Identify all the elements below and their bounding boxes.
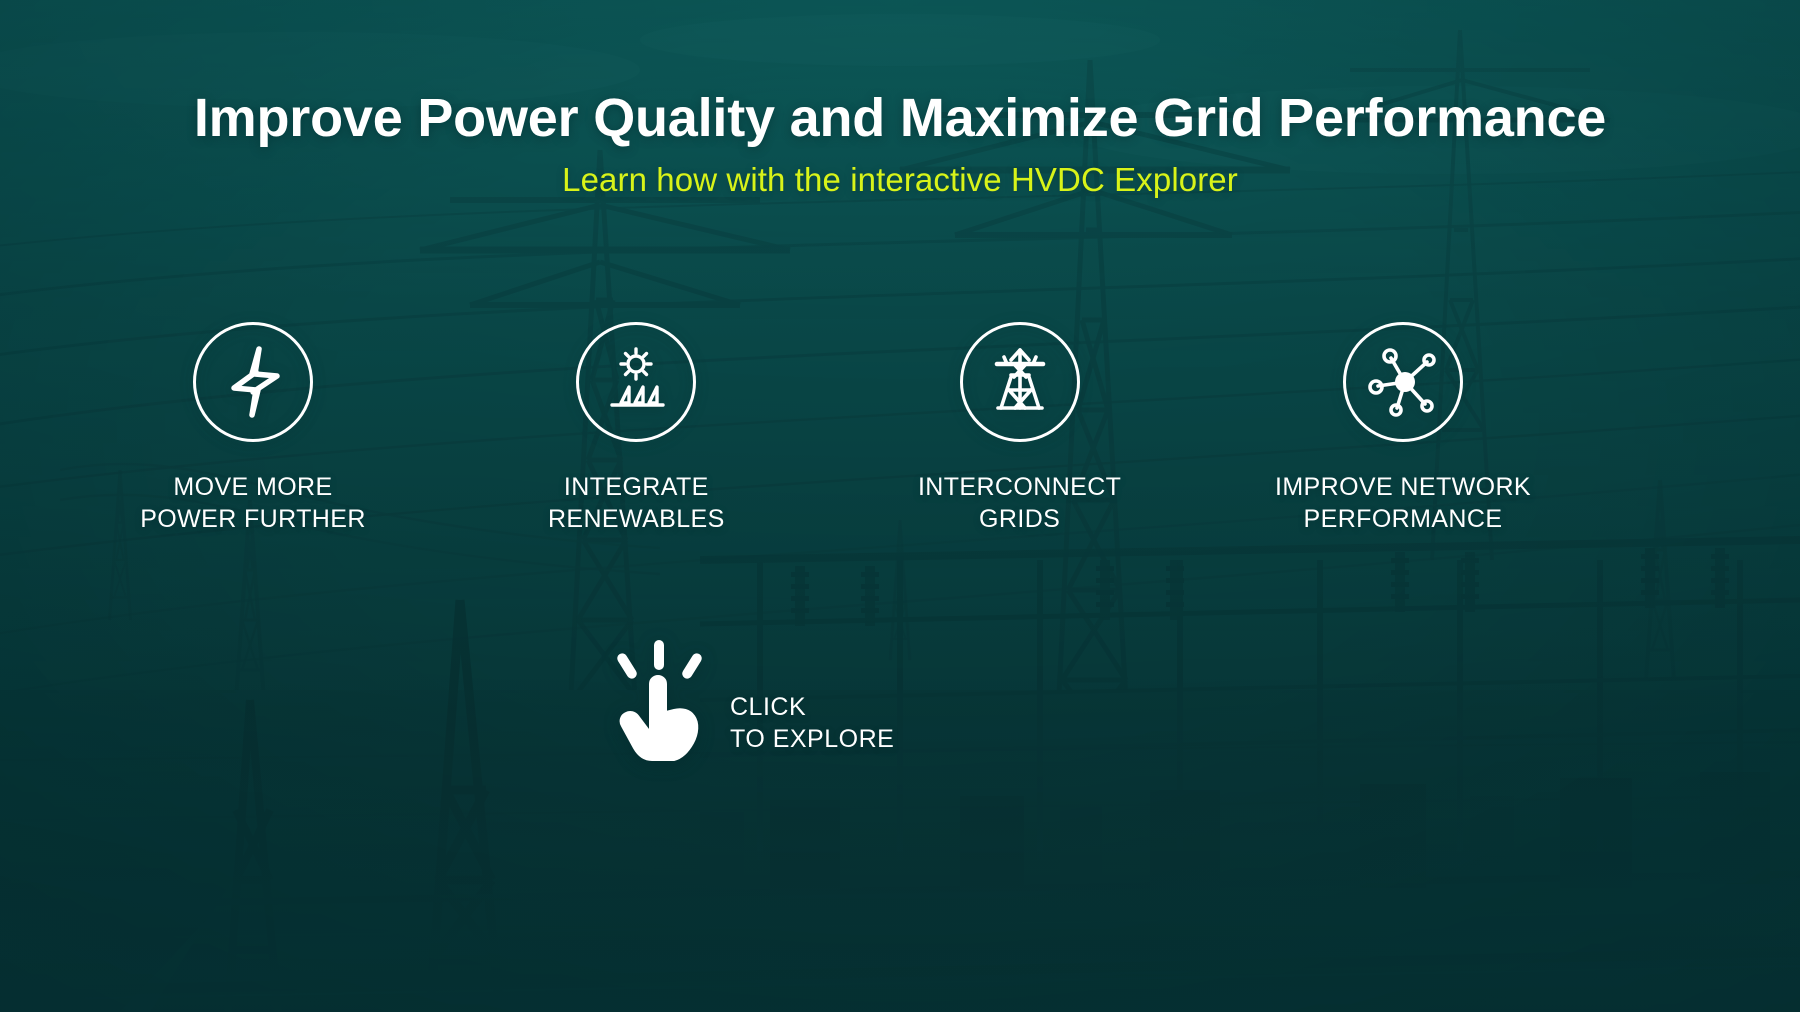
feature-label: INTERCONNECT GRIDS	[918, 472, 1121, 536]
feature-label: IMPROVE NETWORK PERFORMANCE	[1275, 472, 1531, 536]
icon-circle	[576, 322, 696, 442]
feature-label: MOVE MORE POWER FURTHER	[140, 472, 366, 536]
network-nodes-icon	[1367, 346, 1439, 418]
transmission-tower-icon	[987, 346, 1053, 418]
feature-interconnect-grids[interactable]: INTERCONNECT GRIDS	[875, 322, 1165, 536]
hero-content: Improve Power Quality and Maximize Grid …	[0, 0, 1800, 1012]
feature-integrate-renewables[interactable]: INTEGRATE RENEWABLES	[491, 322, 781, 536]
click-to-explore-cta[interactable]: CLICK TO EXPLORE	[604, 640, 894, 764]
cta-label: CLICK TO EXPLORE	[730, 691, 894, 756]
feature-improve-network-performance[interactable]: IMPROVE NETWORK PERFORMANCE	[1258, 322, 1548, 536]
icon-circle	[1343, 322, 1463, 442]
feature-move-more-power-further[interactable]: MOVE MORE POWER FURTHER	[108, 322, 398, 536]
solar-renewables-icon	[599, 347, 673, 417]
icon-circle	[960, 322, 1080, 442]
page-title: Improve Power Quality and Maximize Grid …	[0, 90, 1800, 147]
icon-circle	[193, 322, 313, 442]
lightning-bolt-icon	[222, 346, 284, 418]
feature-label: INTEGRATE RENEWABLES	[548, 472, 725, 536]
pointing-hand-cursor-icon[interactable]	[604, 640, 716, 764]
feature-list: MOVE MORE POWER FURTHER	[108, 322, 1548, 542]
hero-banner: Improve Power Quality and Maximize Grid …	[0, 0, 1800, 1012]
page-subtitle: Learn how with the interactive HVDC Expl…	[0, 161, 1800, 199]
